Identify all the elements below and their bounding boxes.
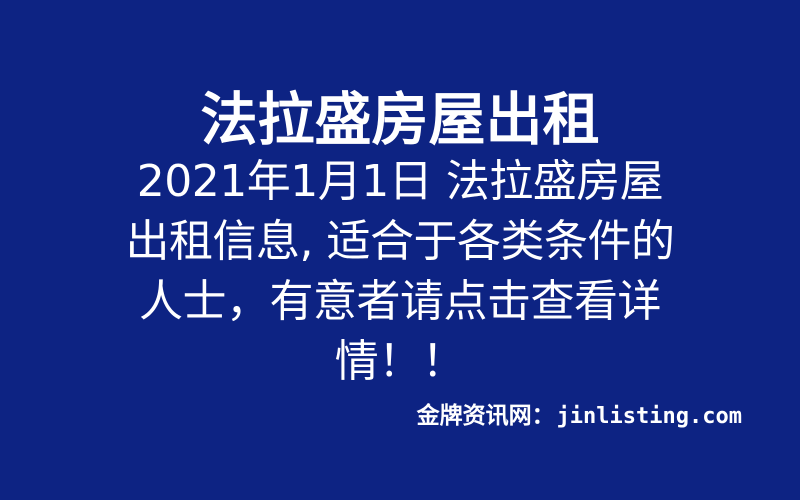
body-line-4: 情！！	[60, 332, 740, 392]
body-line-2: 出租信息, 适合于各类条件的	[60, 212, 740, 272]
banner-body-text: 2021年1月1日 法拉盛房屋 出租信息, 适合于各类条件的 人士，有意者请点击…	[60, 152, 740, 392]
site-url-text: jinlisting.com	[557, 404, 742, 429]
watermark-footer: 金牌资讯网： jinlisting.com	[417, 396, 742, 430]
site-name-label: 金牌资讯网：	[417, 396, 555, 430]
body-line-3: 人士，有意者请点击查看详	[60, 272, 740, 332]
page-title: 法拉盛房屋出租	[201, 90, 600, 152]
rental-ad-banner: 法拉盛房屋出租 2021年1月1日 法拉盛房屋 出租信息, 适合于各类条件的 人…	[0, 0, 800, 500]
body-line-1: 2021年1月1日 法拉盛房屋	[60, 152, 740, 212]
